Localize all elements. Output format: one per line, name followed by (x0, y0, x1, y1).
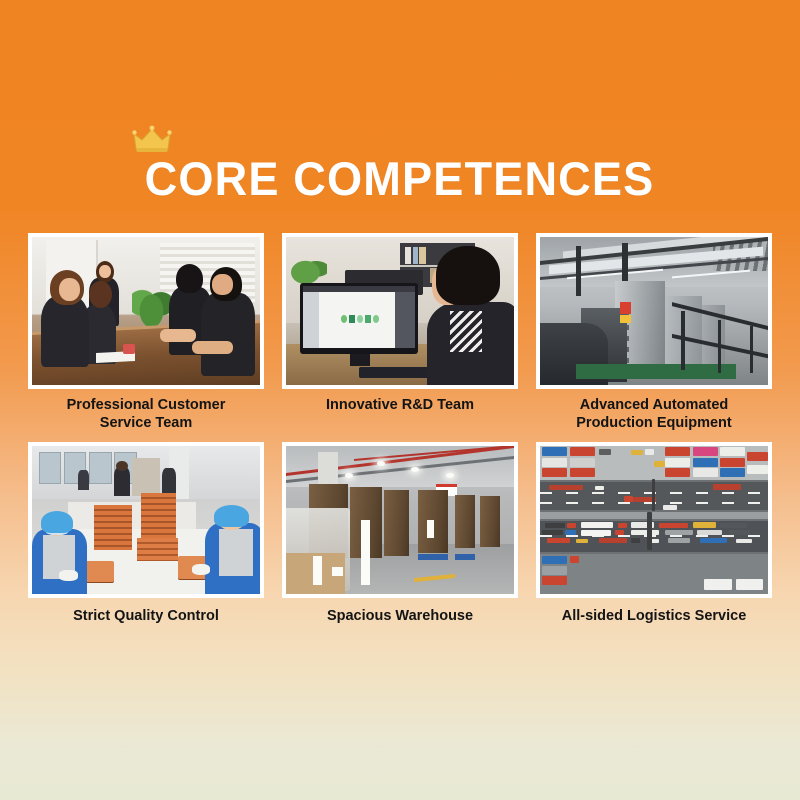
competence-caption: Spacious Warehouse (282, 607, 518, 625)
warehouse-illustration (286, 446, 514, 594)
page-title: CORE COMPETENCES (145, 152, 655, 206)
quality-control-illustration (32, 446, 260, 594)
header: CORE COMPETENCES (0, 152, 800, 206)
competence-image-professional-customer-service-team[interactable] (28, 233, 264, 389)
competence-caption: Professional Customer Service Team (28, 396, 264, 432)
competence-caption: Advanced Automated Production Equipment (536, 396, 772, 432)
competence-card-advanced-automated-production-equipment[interactable]: Advanced Automated Production Equipment (536, 233, 772, 432)
competence-card-professional-customer-service-team[interactable]: Professional Customer Service Team (28, 233, 264, 432)
printing-press-illustration (540, 237, 768, 385)
competence-card-spacious-warehouse[interactable]: Spacious Warehouse (282, 442, 518, 625)
logistics-aerial-illustration (540, 446, 768, 594)
competence-caption: Innovative R&D Team (282, 396, 518, 414)
competence-image-strict-quality-control[interactable] (28, 442, 264, 598)
meeting-room-illustration (32, 237, 260, 385)
competence-image-all-sided-logistics-service[interactable] (536, 442, 772, 598)
competence-card-innovative-rd-team[interactable]: Innovative R&D Team (282, 233, 518, 432)
competence-card-all-sided-logistics-service[interactable]: All-sided Logistics Service (536, 442, 772, 625)
competence-grid: Professional Customer Service Team (28, 233, 772, 625)
competence-image-advanced-automated-production-equipment[interactable] (536, 233, 772, 389)
crown-icon (132, 125, 172, 155)
competence-caption: All-sided Logistics Service (536, 607, 772, 625)
designer-workstation-illustration (286, 237, 514, 385)
core-competences-banner: CORE COMPETENCES Professional (0, 0, 800, 800)
title-group: CORE COMPETENCES (134, 152, 665, 206)
competence-caption: Strict Quality Control (28, 607, 264, 625)
competence-image-innovative-rd-team[interactable] (282, 233, 518, 389)
competence-card-strict-quality-control[interactable]: Strict Quality Control (28, 442, 264, 625)
competence-image-spacious-warehouse[interactable] (282, 442, 518, 598)
